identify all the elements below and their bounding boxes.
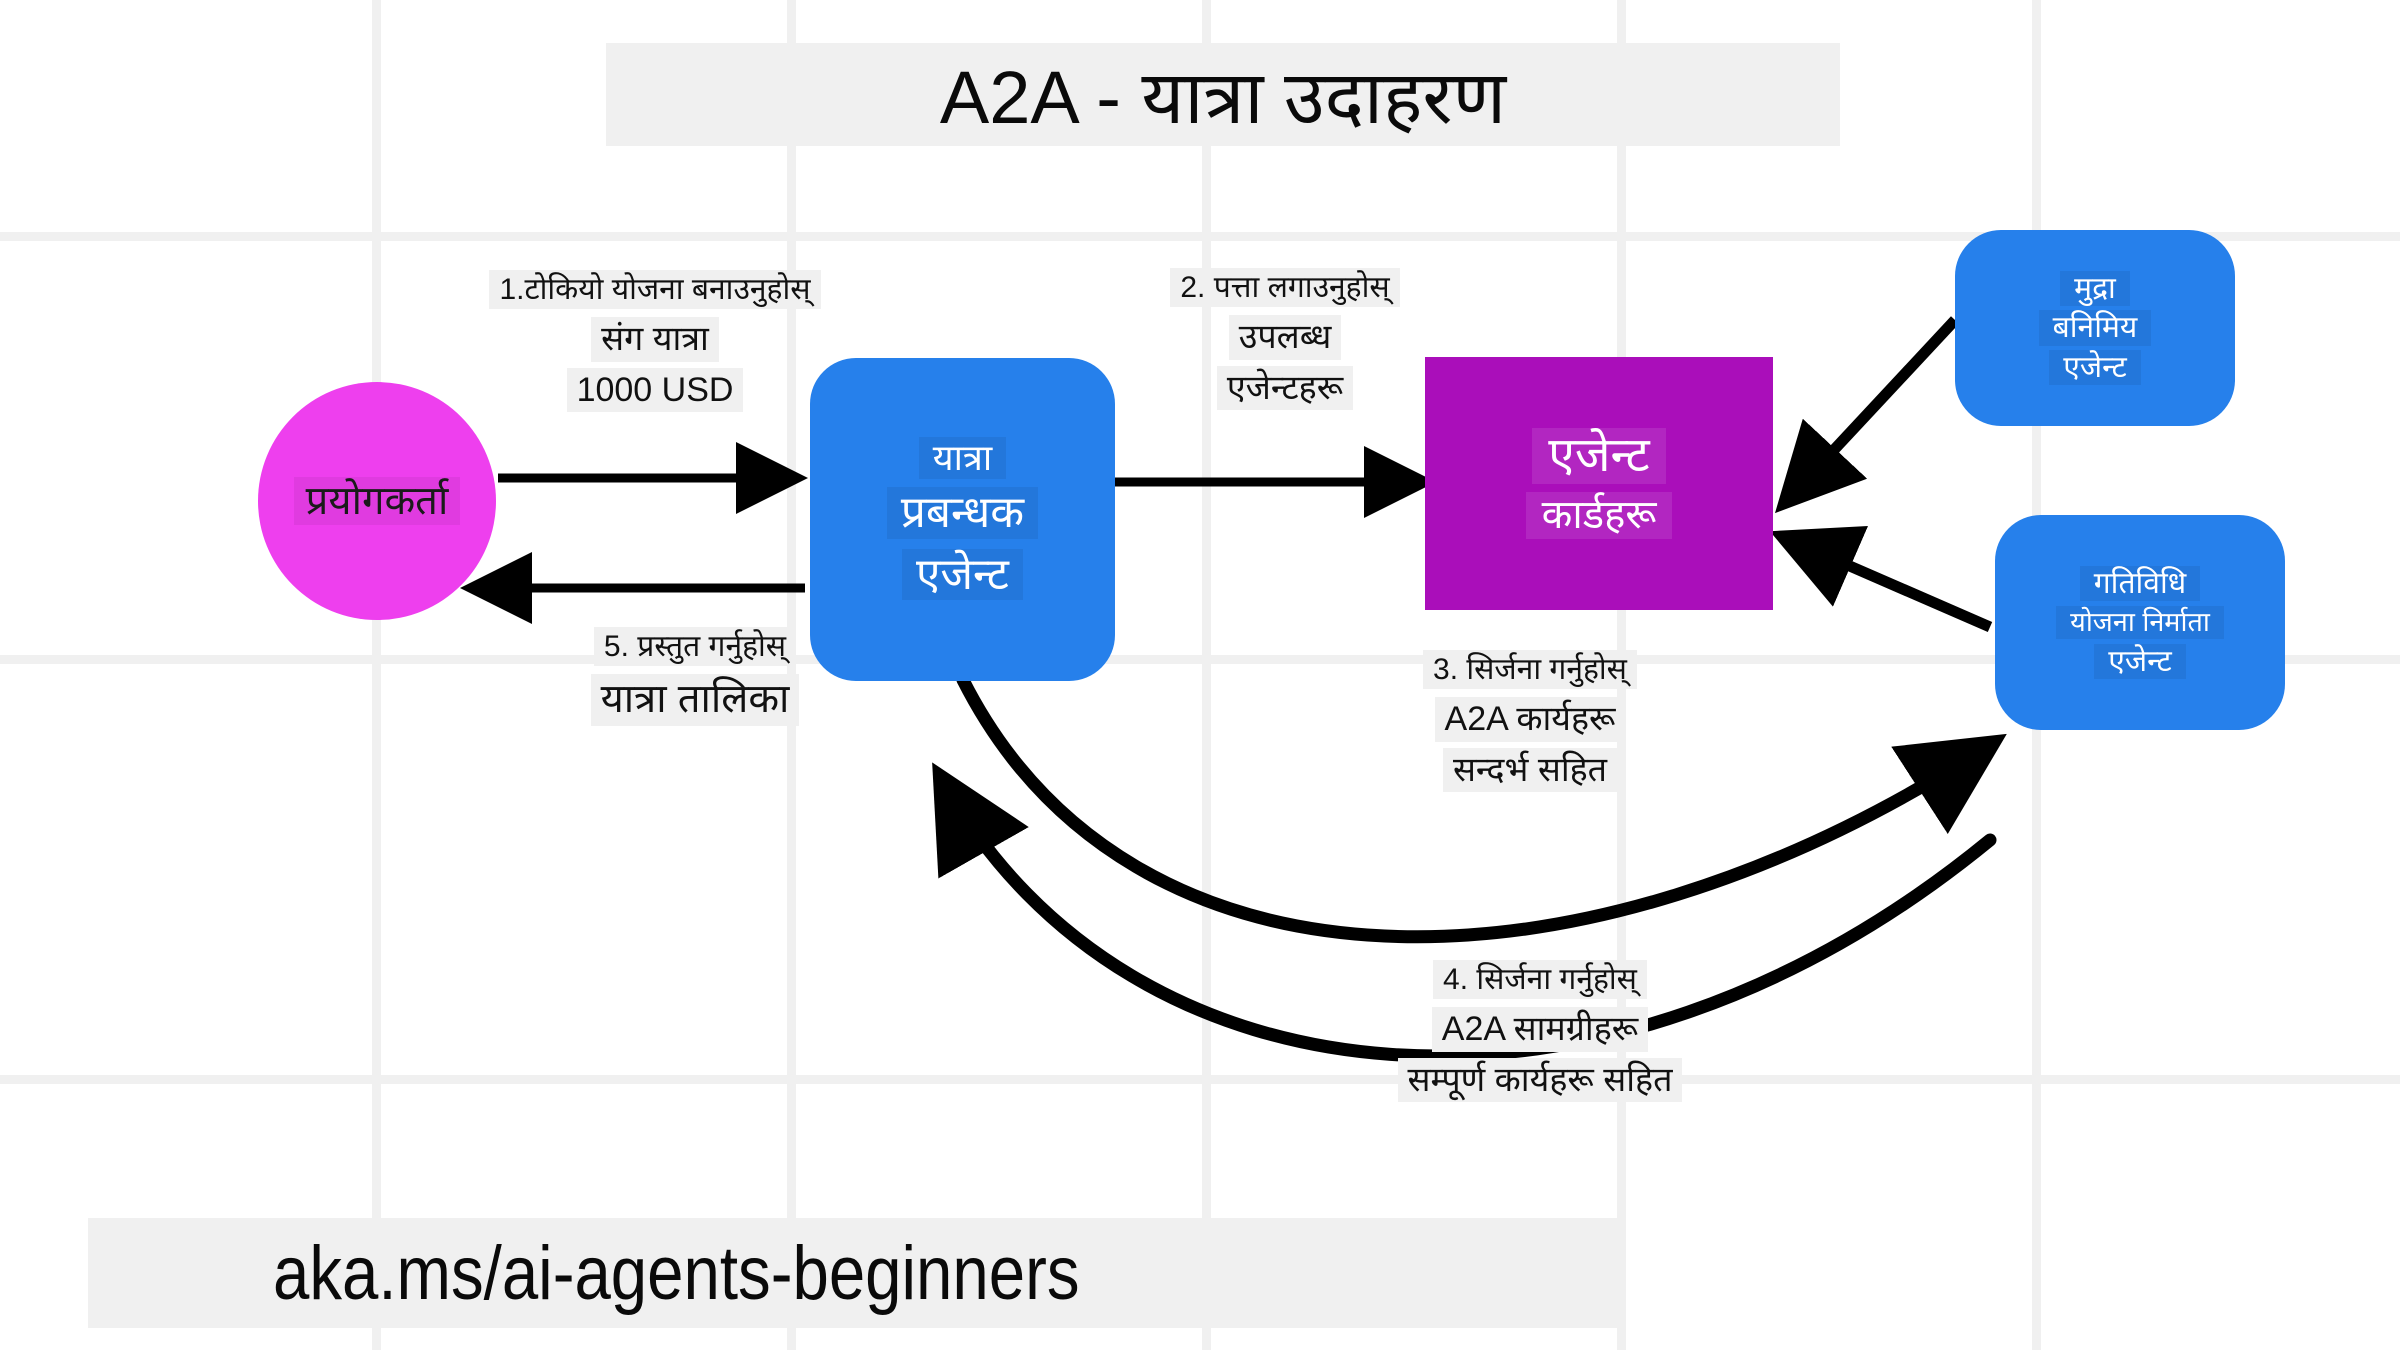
step-label-1-line-2: संग यात्रा: [591, 317, 719, 361]
step-label-4-line-2: A2A सामग्रीहरू: [1432, 1007, 1648, 1051]
node-agent-cards-label-2: कार्डहरू: [1526, 492, 1673, 539]
node-activity-agent-label-3: एजेन्ट: [2094, 644, 2185, 680]
step-label-5-line-1: 5. प्रस्तुत गर्नुहोस्: [594, 627, 796, 666]
node-user-label-1: प्रयोगकर्ता: [294, 477, 461, 526]
footer-link-text: aka.ms/ai-agents-beginners: [273, 1230, 1080, 1317]
node-travel-manager-agent[interactable]: यात्रा प्रबन्धक एजेन्ट: [810, 358, 1115, 681]
node-currency-agent-label-1: मुद्रा: [2060, 271, 2130, 307]
grid-line-horizontal: [0, 1075, 2400, 1084]
step-label-5: 5. प्रस्तुत गर्नुहोस् यात्रा तालिका: [545, 627, 845, 726]
grid-line-vertical: [1202, 0, 1211, 1350]
grid-line-vertical: [372, 0, 381, 1350]
step-label-2-line-2: उपलब्ध: [1229, 315, 1342, 359]
node-agent-cards-label-1: एजेन्ट: [1532, 428, 1665, 484]
node-currency-exchange-agent[interactable]: मुद्रा बनिमिय एजेन्ट: [1955, 230, 2235, 426]
step-label-2-line-3: एजेन्टहरू: [1217, 366, 1353, 410]
node-currency-agent-label-3: एजेन्ट: [2049, 350, 2140, 386]
step-label-4-line-3: सम्पूर्ण कार्यहरू सहित: [1398, 1058, 1683, 1102]
node-activity-agent-label-1: गतिविधि: [2080, 566, 2200, 602]
node-agent-cards[interactable]: एजेन्ट कार्डहरू: [1425, 357, 1773, 610]
step-label-4-line-1: 4. सिर्जना गर्नुहोस्: [1433, 960, 1647, 999]
page-title-text: A2A - यात्रा उदाहरण: [940, 44, 1506, 145]
step-label-4: 4. सिर्जना गर्नुहोस् A2A सामग्रीहरू सम्प…: [1360, 960, 1720, 1102]
step-label-3-line-1: 3. सिर्जना गर्नुहोस्: [1423, 650, 1637, 689]
node-activity-agent-label-2: योजना निर्माता: [2056, 606, 2224, 638]
step-label-1: 1.टोकियो योजना बनाउनुहोस् संग यात्रा 100…: [490, 270, 820, 412]
arrow-currency-agent-to-agent-cards: [1790, 320, 1955, 497]
footer-link[interactable]: aka.ms/ai-agents-beginners: [88, 1218, 1618, 1328]
step-label-2: 2. पत्ता लगाउनुहोस् उपलब्ध एजेन्टहरू: [1125, 268, 1445, 410]
step-label-2-line-1: 2. पत्ता लगाउनुहोस्: [1170, 268, 1399, 307]
step-label-3-line-3: सन्दर्भ सहित: [1443, 748, 1617, 792]
diagram-canvas: A2A - यात्रा उदाहरण प्रयोगकर्ता यात्रा प…: [0, 0, 2400, 1350]
step-label-1-line-3: 1000 USD: [567, 368, 744, 412]
step-label-3: 3. सिर्जना गर्नुहोस् A2A कार्यहरू सन्दर्…: [1370, 650, 1690, 792]
node-currency-agent-label-2: बनिमिय: [2039, 310, 2152, 346]
node-travel-manager-label-1: यात्रा: [919, 437, 1006, 479]
page-title: A2A - यात्रा उदाहरण: [606, 43, 1840, 146]
arrow-activity-agent-to-agent-cards: [1790, 540, 1990, 627]
node-activity-planner-agent[interactable]: गतिविधि योजना निर्माता एजेन्ट: [1995, 515, 2285, 730]
node-travel-manager-label-2: प्रबन्धक: [887, 487, 1038, 538]
node-travel-manager-label-3: एजेन्ट: [902, 549, 1023, 600]
step-label-5-line-2: यात्रा तालिका: [591, 674, 800, 725]
node-user[interactable]: प्रयोगकर्ता: [258, 382, 496, 620]
step-label-1-line-1: 1.टोकियो योजना बनाउनुहोस्: [489, 270, 820, 309]
step-label-3-line-2: A2A कार्यहरू: [1435, 697, 1626, 741]
